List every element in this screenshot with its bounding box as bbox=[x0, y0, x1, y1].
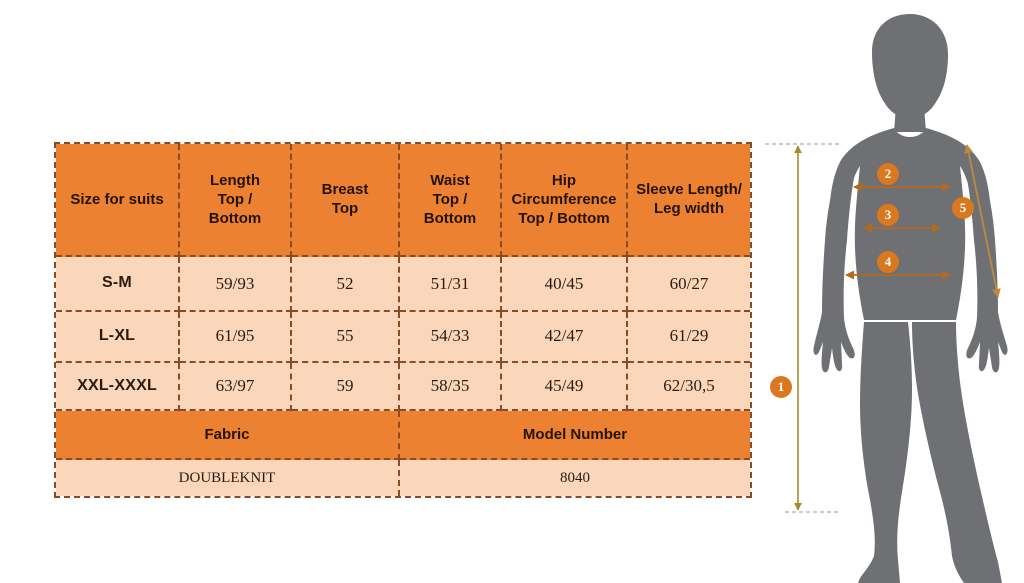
female-silhouette-diagram bbox=[760, 0, 1024, 583]
column-header-waist-line1: Waist bbox=[424, 171, 477, 190]
cell-hip: 42/47 bbox=[502, 312, 628, 362]
cell-sleeve: 62/30,5 bbox=[628, 363, 750, 411]
column-header-hip-line1: Hip bbox=[511, 171, 616, 190]
footer-header-row: Fabric Model Number bbox=[56, 411, 750, 460]
cell-length: 59/93 bbox=[180, 257, 292, 312]
column-header-length-line2: Top / bbox=[209, 190, 262, 209]
measurement-figure-panel: 1 2 3 4 5 bbox=[760, 0, 1024, 583]
cell-waist: 58/35 bbox=[400, 363, 502, 411]
column-header-size-label: Size for suits bbox=[70, 190, 163, 209]
column-header-model-number: Model Number bbox=[400, 411, 750, 460]
cell-breast: 59 bbox=[292, 363, 400, 411]
footer-data-row: DOUBLEKNIT 8040 bbox=[56, 460, 750, 496]
column-header-fabric: Fabric bbox=[56, 411, 400, 460]
column-header-size: Size for suits bbox=[56, 144, 180, 257]
table-row: L-XL 61/95 55 54/33 42/47 61/29 bbox=[56, 312, 750, 362]
cell-breast: 55 bbox=[292, 312, 400, 362]
column-header-waist: Waist Top / Bottom bbox=[400, 144, 502, 257]
column-header-sleeve-line1: Sleeve Length/ bbox=[636, 180, 742, 199]
column-header-hip-line2: Circumference bbox=[511, 190, 616, 209]
column-header-breast-line1: Breast bbox=[322, 180, 369, 199]
cell-length: 63/97 bbox=[180, 363, 292, 411]
marker-badge-5: 5 bbox=[952, 197, 974, 219]
column-header-hip: Hip Circumference Top / Bottom bbox=[502, 144, 628, 257]
cell-fabric-value: DOUBLEKNIT bbox=[56, 460, 400, 496]
cell-waist: 51/31 bbox=[400, 257, 502, 312]
cell-hip: 45/49 bbox=[502, 363, 628, 411]
size-chart-table: Size for suits Length Top / Bottom Breas… bbox=[54, 142, 752, 498]
cell-waist: 54/33 bbox=[400, 312, 502, 362]
cell-breast: 52 bbox=[292, 257, 400, 312]
cell-sleeve: 60/27 bbox=[628, 257, 750, 312]
marker-badge-1: 1 bbox=[770, 376, 792, 398]
cell-length: 61/95 bbox=[180, 312, 292, 362]
column-header-length: Length Top / Bottom bbox=[180, 144, 292, 257]
cell-hip: 40/45 bbox=[502, 257, 628, 312]
column-header-waist-line2: Top / bbox=[424, 190, 477, 209]
cell-model-number-value: 8040 bbox=[400, 460, 750, 496]
cell-size: S-M bbox=[56, 257, 180, 312]
cell-size: L-XL bbox=[56, 312, 180, 362]
column-header-hip-line3: Top / Bottom bbox=[511, 209, 616, 228]
table-row: S-M 59/93 52 51/31 40/45 60/27 bbox=[56, 257, 750, 312]
table-row: XXL-XXXL 63/97 59 58/35 45/49 62/30,5 bbox=[56, 363, 750, 411]
cell-sleeve: 61/29 bbox=[628, 312, 750, 362]
marker-badge-4: 4 bbox=[877, 251, 899, 273]
column-header-waist-line3: Bottom bbox=[424, 209, 477, 228]
cell-size: XXL-XXXL bbox=[56, 363, 180, 411]
marker-badge-2: 2 bbox=[877, 163, 899, 185]
column-header-sleeve: Sleeve Length/ Leg width bbox=[628, 144, 750, 257]
column-header-breast: Breast Top bbox=[292, 144, 400, 257]
marker-badge-3: 3 bbox=[877, 204, 899, 226]
column-header-sleeve-line2: Leg width bbox=[636, 199, 742, 218]
silhouette-body bbox=[813, 14, 1007, 583]
column-header-length-line3: Bottom bbox=[209, 209, 262, 228]
column-header-length-line1: Length bbox=[209, 171, 262, 190]
table-header-row: Size for suits Length Top / Bottom Breas… bbox=[56, 144, 750, 257]
column-header-breast-line2: Top bbox=[322, 199, 369, 218]
